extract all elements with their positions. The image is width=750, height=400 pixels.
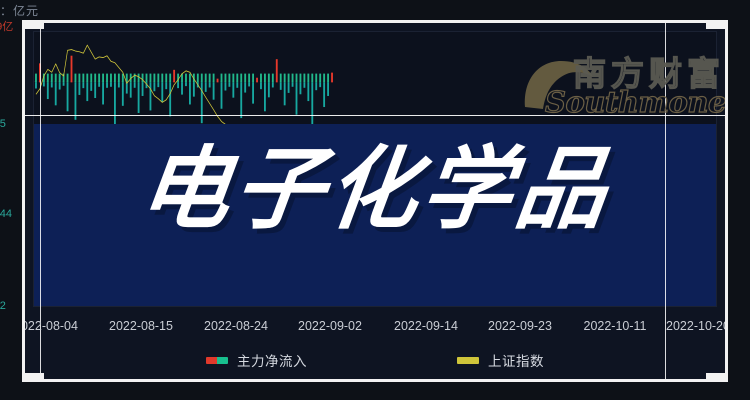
legend-item-net-inflow[interactable]: 主力净流入 — [206, 350, 307, 370]
legend-swatch-icon — [457, 357, 479, 364]
frame-notch-top-left — [22, 20, 44, 29]
plot-area — [33, 31, 717, 307]
legend-swatch-icon — [206, 357, 228, 364]
y-axis-tick: -25 — [0, 118, 6, 130]
screenshot-root: 流入：亿元 南方财富网 Southmoney.com 2022-08-04202… — [0, 0, 750, 400]
x-axis-tick: 2022-09-23 — [488, 319, 552, 333]
legend-label: 主力净流入 — [237, 350, 307, 370]
x-axis-tick: 2022-08-24 — [204, 319, 268, 333]
x-axis-tick: 2022-09-02 — [298, 319, 362, 333]
frame-notch-bottom-left — [22, 373, 44, 382]
navy-highlight-band — [34, 124, 716, 306]
x-axis-tick: 2022-10-11 — [583, 319, 646, 333]
chart-container: 南方财富网 Southmoney.com 2022-08-042022-08-1… — [25, 23, 725, 379]
chart-legend: 主力净流入上证指数 — [25, 349, 725, 371]
y-axis-tick: -644 — [0, 208, 12, 220]
legend-item-index[interactable]: 上证指数 — [457, 350, 544, 370]
y-axis-tick: 39亿 — [0, 18, 13, 34]
crosshair-horizontal[interactable] — [25, 115, 725, 116]
x-axis: 2022-08-042022-08-152022-08-242022-09-02… — [25, 319, 725, 339]
top-caption: 流入：亿元 — [0, 0, 750, 22]
legend-label: 上证指数 — [488, 350, 544, 370]
x-axis-tick: 2022-09-14 — [394, 319, 458, 333]
y-axis-tick: -62 — [0, 300, 6, 312]
frame-notch-top-right — [706, 20, 728, 29]
x-axis-tick: 2022-08-15 — [109, 319, 173, 333]
x-axis-tick: 2022-10-20 — [666, 319, 725, 333]
frame-notch-bottom-right — [706, 373, 728, 382]
top-caption-text: 流入：亿元 — [0, 4, 39, 18]
x-axis-tick: 2022-08-04 — [25, 319, 78, 333]
